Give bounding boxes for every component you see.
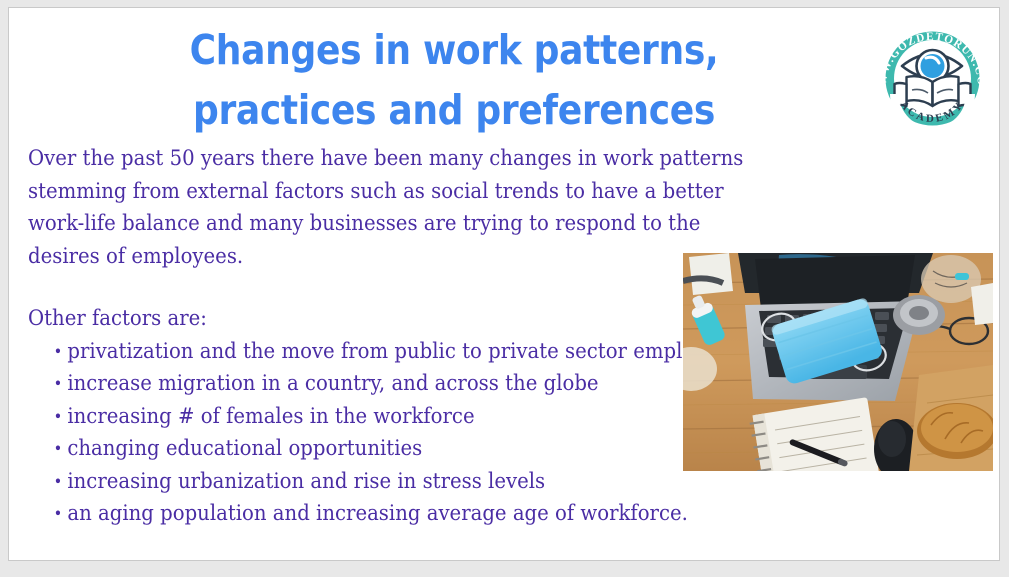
list-item: an aging population and increasing avera… bbox=[54, 498, 759, 531]
title-line-2: practices and preferences bbox=[115, 80, 793, 140]
intro-paragraph: Over the past 50 years there have been m… bbox=[28, 143, 751, 273]
list-item: increasing urbanization and rise in stre… bbox=[54, 466, 759, 499]
other-factors-label: Other factors are: bbox=[28, 273, 705, 336]
list-item: privatization and the move from public t… bbox=[54, 336, 759, 369]
list-item: increasing # of females in the workforce bbox=[54, 401, 759, 434]
list-item: increase migration in a country, and acr… bbox=[54, 368, 759, 401]
factors-list: privatization and the move from public t… bbox=[28, 336, 758, 531]
academy-logo: Gozde Torun Academy eye and open book lo… bbox=[866, 12, 999, 145]
list-item: changing educational opportunities bbox=[54, 433, 759, 466]
title-line-1: Changes in work patterns, bbox=[115, 20, 793, 80]
page-title: Changes in work patterns, practices and … bbox=[115, 20, 793, 140]
slide-frame: Changes in work patterns, practices and … bbox=[8, 7, 1000, 561]
slide-body: Over the past 50 years there have been m… bbox=[28, 143, 705, 531]
desk-photo: Overhead photo of a wooden desk with a l… bbox=[683, 253, 993, 471]
